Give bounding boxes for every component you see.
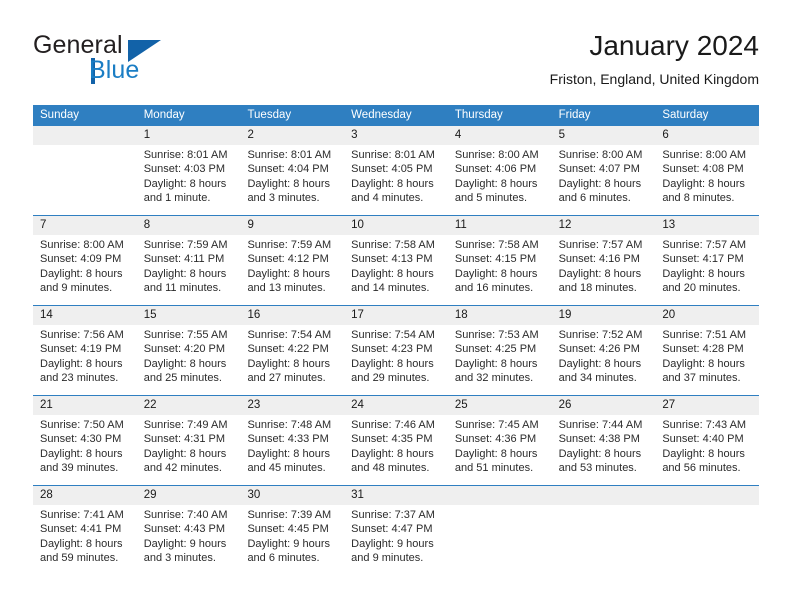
weekday-header-saturday: Saturday (655, 105, 759, 126)
day-info-line: Daylight: 8 hours (144, 267, 234, 281)
day-info-line: Daylight: 8 hours (662, 447, 752, 461)
day-info-line: Sunrise: 8:01 AM (351, 148, 441, 162)
day-info-line: Sunrise: 7:52 AM (559, 328, 649, 342)
day-info-line: Sunrise: 7:39 AM (247, 508, 337, 522)
day-info-line: Daylight: 8 hours (662, 267, 752, 281)
day-number-10[interactable]: 10 (344, 216, 448, 235)
day-info-line: Daylight: 8 hours (247, 447, 337, 461)
day-info-line: Daylight: 8 hours (662, 177, 752, 191)
day-number-16[interactable]: 16 (240, 306, 344, 325)
day-info-line: Sunset: 4:43 PM (144, 522, 234, 536)
day-number-14[interactable]: 14 (33, 306, 137, 325)
day-cell-6[interactable]: Sunrise: 8:00 AMSunset: 4:08 PMDaylight:… (655, 145, 759, 215)
day-info-line: Sunset: 4:07 PM (559, 162, 649, 176)
day-detail-row: Sunrise: 7:56 AMSunset: 4:19 PMDaylight:… (33, 325, 759, 395)
day-info-line: and 45 minutes. (247, 461, 337, 475)
day-info-line: Sunrise: 7:55 AM (144, 328, 234, 342)
day-cell-5[interactable]: Sunrise: 8:00 AMSunset: 4:07 PMDaylight:… (552, 145, 656, 215)
day-cell-17[interactable]: Sunrise: 7:54 AMSunset: 4:23 PMDaylight:… (344, 325, 448, 395)
day-info-line: and 27 minutes. (247, 371, 337, 385)
day-info-line: and 34 minutes. (559, 371, 649, 385)
day-info-line: Sunrise: 7:43 AM (662, 418, 752, 432)
day-info-line: and 39 minutes. (40, 461, 130, 475)
day-info-line: Sunrise: 8:00 AM (662, 148, 752, 162)
day-info-line: and 9 minutes. (40, 281, 130, 295)
day-number-15[interactable]: 15 (137, 306, 241, 325)
day-number-6[interactable]: 6 (655, 126, 759, 145)
day-info-line: Sunset: 4:08 PM (662, 162, 752, 176)
day-number-23[interactable]: 23 (240, 396, 344, 415)
day-number-21[interactable]: 21 (33, 396, 137, 415)
day-cell-11[interactable]: Sunrise: 7:58 AMSunset: 4:15 PMDaylight:… (448, 235, 552, 305)
day-info-line: Daylight: 8 hours (40, 447, 130, 461)
calendar-week-row: 78910111213Sunrise: 8:00 AMSunset: 4:09 … (33, 215, 759, 305)
day-info-line: Sunrise: 8:00 AM (455, 148, 545, 162)
day-info-line: and 6 minutes. (247, 551, 337, 565)
day-info-line: and 48 minutes. (351, 461, 441, 475)
day-info-line: Sunset: 4:33 PM (247, 432, 337, 446)
day-info-line: Daylight: 8 hours (455, 357, 545, 371)
day-info-line: and 8 minutes. (662, 191, 752, 205)
day-info-line: Daylight: 8 hours (247, 357, 337, 371)
day-number-26[interactable]: 26 (552, 396, 656, 415)
day-info-line: Daylight: 8 hours (351, 357, 441, 371)
day-info-line: Sunset: 4:12 PM (247, 252, 337, 266)
day-cell-20[interactable]: Sunrise: 7:51 AMSunset: 4:28 PMDaylight:… (655, 325, 759, 395)
day-info-line: Sunset: 4:15 PM (455, 252, 545, 266)
day-cell-22[interactable]: Sunrise: 7:49 AMSunset: 4:31 PMDaylight:… (137, 415, 241, 485)
day-cell-18[interactable]: Sunrise: 7:53 AMSunset: 4:25 PMDaylight:… (448, 325, 552, 395)
day-info-line: Daylight: 8 hours (351, 177, 441, 191)
day-info-line: Sunset: 4:03 PM (144, 162, 234, 176)
day-info-line: and 13 minutes. (247, 281, 337, 295)
day-info-line: and 1 minute. (144, 191, 234, 205)
calendar-week-row: 123456Sunrise: 8:01 AMSunset: 4:03 PMDay… (33, 126, 759, 215)
day-info-line: Sunset: 4:40 PM (662, 432, 752, 446)
day-info-line: and 25 minutes. (144, 371, 234, 385)
day-info-line: and 9 minutes. (351, 551, 441, 565)
day-info-line: Sunset: 4:20 PM (144, 342, 234, 356)
day-cell-24[interactable]: Sunrise: 7:46 AMSunset: 4:35 PMDaylight:… (344, 415, 448, 485)
day-info-line: and 6 minutes. (559, 191, 649, 205)
day-cell-9[interactable]: Sunrise: 7:59 AMSunset: 4:12 PMDaylight:… (240, 235, 344, 305)
day-cell-25[interactable]: Sunrise: 7:45 AMSunset: 4:36 PMDaylight:… (448, 415, 552, 485)
day-info-line: Sunrise: 7:50 AM (40, 418, 130, 432)
day-info-line: and 14 minutes. (351, 281, 441, 295)
day-info-line: Sunrise: 7:40 AM (144, 508, 234, 522)
day-number-4[interactable]: 4 (448, 126, 552, 145)
calendar-week-row: 14151617181920Sunrise: 7:56 AMSunset: 4:… (33, 305, 759, 395)
day-number-25[interactable]: 25 (448, 396, 552, 415)
day-info-line: Daylight: 9 hours (247, 537, 337, 551)
day-number-band: 14151617181920 (33, 306, 759, 325)
day-info-line: Sunrise: 8:00 AM (559, 148, 649, 162)
day-cell-empty (655, 505, 759, 575)
day-cell-7[interactable]: Sunrise: 8:00 AMSunset: 4:09 PMDaylight:… (33, 235, 137, 305)
day-info-line: Sunrise: 8:01 AM (144, 148, 234, 162)
calendar-week-row: 28293031Sunrise: 7:41 AMSunset: 4:41 PMD… (33, 485, 759, 575)
day-number-band: 78910111213 (33, 216, 759, 235)
day-number-28[interactable]: 28 (33, 486, 137, 505)
weekday-header-sunday: Sunday (33, 105, 137, 126)
calendar-page: General Blue January 2024 Friston, Engla… (0, 0, 792, 612)
day-detail-row: Sunrise: 8:01 AMSunset: 4:03 PMDaylight:… (33, 145, 759, 215)
day-info-line: Daylight: 8 hours (559, 177, 649, 191)
day-cell-10[interactable]: Sunrise: 7:58 AMSunset: 4:13 PMDaylight:… (344, 235, 448, 305)
day-info-line: Sunrise: 7:57 AM (559, 238, 649, 252)
day-cell-21[interactable]: Sunrise: 7:50 AMSunset: 4:30 PMDaylight:… (33, 415, 137, 485)
day-number-empty (448, 486, 552, 505)
day-cell-23[interactable]: Sunrise: 7:48 AMSunset: 4:33 PMDaylight:… (240, 415, 344, 485)
day-info-line: Sunrise: 7:44 AM (559, 418, 649, 432)
weekday-header-friday: Friday (552, 105, 656, 126)
day-info-line: Sunrise: 7:54 AM (351, 328, 441, 342)
day-number-band: 28293031 (33, 486, 759, 505)
day-info-line: and 3 minutes. (144, 551, 234, 565)
day-info-line: and 20 minutes. (662, 281, 752, 295)
day-info-line: Sunset: 4:06 PM (455, 162, 545, 176)
day-cell-30[interactable]: Sunrise: 7:39 AMSunset: 4:45 PMDaylight:… (240, 505, 344, 575)
day-detail-row: Sunrise: 7:41 AMSunset: 4:41 PMDaylight:… (33, 505, 759, 575)
weekday-header-monday: Monday (137, 105, 241, 126)
title-block: January 2024 Friston, England, United Ki… (550, 28, 759, 90)
day-number-19[interactable]: 19 (552, 306, 656, 325)
day-cell-14[interactable]: Sunrise: 7:56 AMSunset: 4:19 PMDaylight:… (33, 325, 137, 395)
day-cell-empty (448, 505, 552, 575)
day-info-line: Daylight: 8 hours (559, 357, 649, 371)
weekday-header-row: SundayMondayTuesdayWednesdayThursdayFrid… (33, 105, 759, 126)
page-header: General Blue January 2024 Friston, Engla… (33, 28, 759, 100)
day-cell-4[interactable]: Sunrise: 8:00 AMSunset: 4:06 PMDaylight:… (448, 145, 552, 215)
day-info-line: Sunset: 4:47 PM (351, 522, 441, 536)
day-info-line: Daylight: 8 hours (559, 447, 649, 461)
day-info-line: Sunset: 4:13 PM (351, 252, 441, 266)
day-cell-31[interactable]: Sunrise: 7:37 AMSunset: 4:47 PMDaylight:… (344, 505, 448, 575)
day-info-line: Sunset: 4:22 PM (247, 342, 337, 356)
day-info-line: Daylight: 8 hours (455, 447, 545, 461)
day-cell-29[interactable]: Sunrise: 7:40 AMSunset: 4:43 PMDaylight:… (137, 505, 241, 575)
day-info-line: Sunrise: 7:37 AM (351, 508, 441, 522)
day-cell-13[interactable]: Sunrise: 7:57 AMSunset: 4:17 PMDaylight:… (655, 235, 759, 305)
day-cell-1[interactable]: Sunrise: 8:01 AMSunset: 4:03 PMDaylight:… (137, 145, 241, 215)
day-info-line: Daylight: 8 hours (662, 357, 752, 371)
general-blue-logo[interactable]: General Blue (33, 30, 243, 90)
day-info-line: Sunset: 4:38 PM (559, 432, 649, 446)
calendar-weeks: 123456Sunrise: 8:01 AMSunset: 4:03 PMDay… (33, 126, 759, 575)
day-info-line: Sunset: 4:26 PM (559, 342, 649, 356)
day-info-line: Daylight: 8 hours (144, 447, 234, 461)
day-info-line: and 18 minutes. (559, 281, 649, 295)
day-info-line: Sunset: 4:11 PM (144, 252, 234, 266)
day-number-8[interactable]: 8 (137, 216, 241, 235)
page-title: January 2024 (550, 28, 759, 64)
day-cell-28[interactable]: Sunrise: 7:41 AMSunset: 4:41 PMDaylight:… (33, 505, 137, 575)
location-subtitle: Friston, England, United Kingdom (550, 68, 759, 90)
day-cell-27[interactable]: Sunrise: 7:43 AMSunset: 4:40 PMDaylight:… (655, 415, 759, 485)
day-info-line: and 4 minutes. (351, 191, 441, 205)
day-number-band: 123456 (33, 126, 759, 145)
day-number-20[interactable]: 20 (655, 306, 759, 325)
day-info-line: Daylight: 8 hours (351, 447, 441, 461)
day-info-line: Daylight: 8 hours (144, 177, 234, 191)
day-info-line: Sunset: 4:31 PM (144, 432, 234, 446)
day-info-line: Daylight: 9 hours (351, 537, 441, 551)
brand-word-blue: Blue (89, 55, 139, 85)
day-cell-12[interactable]: Sunrise: 7:57 AMSunset: 4:16 PMDaylight:… (552, 235, 656, 305)
day-number-empty (655, 486, 759, 505)
day-info-line: and 37 minutes. (662, 371, 752, 385)
day-info-line: Sunrise: 7:54 AM (247, 328, 337, 342)
day-cell-empty (552, 505, 656, 575)
day-info-line: Sunrise: 7:53 AM (455, 328, 545, 342)
day-info-line: Sunrise: 7:58 AM (455, 238, 545, 252)
day-number-band: 21222324252627 (33, 396, 759, 415)
day-number-9[interactable]: 9 (240, 216, 344, 235)
day-info-line: Sunrise: 7:59 AM (247, 238, 337, 252)
day-cell-3[interactable]: Sunrise: 8:01 AMSunset: 4:05 PMDaylight:… (344, 145, 448, 215)
day-number-22[interactable]: 22 (137, 396, 241, 415)
day-info-line: and 16 minutes. (455, 281, 545, 295)
day-info-line: and 32 minutes. (455, 371, 545, 385)
day-info-line: Sunset: 4:19 PM (40, 342, 130, 356)
day-info-line: and 59 minutes. (40, 551, 130, 565)
day-number-18[interactable]: 18 (448, 306, 552, 325)
day-info-line: and 5 minutes. (455, 191, 545, 205)
day-info-line: Sunset: 4:28 PM (662, 342, 752, 356)
day-cell-2[interactable]: Sunrise: 8:01 AMSunset: 4:04 PMDaylight:… (240, 145, 344, 215)
day-info-line: Sunset: 4:17 PM (662, 252, 752, 266)
day-number-13[interactable]: 13 (655, 216, 759, 235)
day-number-empty (33, 126, 137, 145)
day-number-2[interactable]: 2 (240, 126, 344, 145)
day-info-line: Sunset: 4:23 PM (351, 342, 441, 356)
day-number-31[interactable]: 31 (344, 486, 448, 505)
day-info-line: and 56 minutes. (662, 461, 752, 475)
day-number-30[interactable]: 30 (240, 486, 344, 505)
day-info-line: Sunrise: 7:45 AM (455, 418, 545, 432)
day-number-29[interactable]: 29 (137, 486, 241, 505)
day-info-line: and 23 minutes. (40, 371, 130, 385)
day-info-line: Sunset: 4:41 PM (40, 522, 130, 536)
day-info-line: and 3 minutes. (247, 191, 337, 205)
day-info-line: Daylight: 8 hours (40, 537, 130, 551)
day-info-line: Sunset: 4:16 PM (559, 252, 649, 266)
day-cell-16[interactable]: Sunrise: 7:54 AMSunset: 4:22 PMDaylight:… (240, 325, 344, 395)
day-number-5[interactable]: 5 (552, 126, 656, 145)
day-info-line: Sunset: 4:25 PM (455, 342, 545, 356)
day-info-line: Sunrise: 7:57 AM (662, 238, 752, 252)
day-info-line: Sunrise: 8:01 AM (247, 148, 337, 162)
day-number-11[interactable]: 11 (448, 216, 552, 235)
day-cell-26[interactable]: Sunrise: 7:44 AMSunset: 4:38 PMDaylight:… (552, 415, 656, 485)
weekday-header-thursday: Thursday (448, 105, 552, 126)
day-info-line: Sunrise: 7:58 AM (351, 238, 441, 252)
day-info-line: and 29 minutes. (351, 371, 441, 385)
day-info-line: Daylight: 8 hours (559, 267, 649, 281)
weekday-header-tuesday: Tuesday (240, 105, 344, 126)
day-number-7[interactable]: 7 (33, 216, 137, 235)
day-info-line: Sunrise: 7:41 AM (40, 508, 130, 522)
day-cell-8[interactable]: Sunrise: 7:59 AMSunset: 4:11 PMDaylight:… (137, 235, 241, 305)
day-info-line: Daylight: 8 hours (351, 267, 441, 281)
day-cell-empty (33, 145, 137, 215)
day-info-line: Sunset: 4:45 PM (247, 522, 337, 536)
day-info-line: Sunset: 4:35 PM (351, 432, 441, 446)
day-info-line: Daylight: 8 hours (247, 267, 337, 281)
day-info-line: Sunrise: 8:00 AM (40, 238, 130, 252)
day-info-line: Sunrise: 7:46 AM (351, 418, 441, 432)
day-info-line: Sunrise: 7:51 AM (662, 328, 752, 342)
day-info-line: and 11 minutes. (144, 281, 234, 295)
day-number-17[interactable]: 17 (344, 306, 448, 325)
day-number-27[interactable]: 27 (655, 396, 759, 415)
day-info-line: Sunset: 4:09 PM (40, 252, 130, 266)
day-info-line: and 53 minutes. (559, 461, 649, 475)
day-detail-row: Sunrise: 8:00 AMSunset: 4:09 PMDaylight:… (33, 235, 759, 305)
weekday-header-wednesday: Wednesday (344, 105, 448, 126)
day-number-24[interactable]: 24 (344, 396, 448, 415)
day-info-line: Daylight: 8 hours (455, 267, 545, 281)
day-info-line: Daylight: 8 hours (144, 357, 234, 371)
day-info-line: Sunset: 4:05 PM (351, 162, 441, 176)
calendar-table: SundayMondayTuesdayWednesdayThursdayFrid… (33, 105, 759, 575)
day-info-line: and 51 minutes. (455, 461, 545, 475)
day-number-empty (552, 486, 656, 505)
calendar-week-row: 21222324252627Sunrise: 7:50 AMSunset: 4:… (33, 395, 759, 485)
day-cell-15[interactable]: Sunrise: 7:55 AMSunset: 4:20 PMDaylight:… (137, 325, 241, 395)
day-number-12[interactable]: 12 (552, 216, 656, 235)
day-number-1[interactable]: 1 (137, 126, 241, 145)
day-info-line: Sunset: 4:30 PM (40, 432, 130, 446)
day-number-3[interactable]: 3 (344, 126, 448, 145)
day-detail-row: Sunrise: 7:50 AMSunset: 4:30 PMDaylight:… (33, 415, 759, 485)
day-info-line: and 42 minutes. (144, 461, 234, 475)
day-info-line: Daylight: 8 hours (247, 177, 337, 191)
day-info-line: Daylight: 8 hours (455, 177, 545, 191)
day-info-line: Sunrise: 7:56 AM (40, 328, 130, 342)
day-cell-19[interactable]: Sunrise: 7:52 AMSunset: 4:26 PMDaylight:… (552, 325, 656, 395)
day-info-line: Sunrise: 7:49 AM (144, 418, 234, 432)
day-info-line: Sunrise: 7:48 AM (247, 418, 337, 432)
day-info-line: Daylight: 9 hours (144, 537, 234, 551)
day-info-line: Sunset: 4:36 PM (455, 432, 545, 446)
day-info-line: Sunrise: 7:59 AM (144, 238, 234, 252)
day-info-line: Sunset: 4:04 PM (247, 162, 337, 176)
day-info-line: Daylight: 8 hours (40, 357, 130, 371)
day-info-line: Daylight: 8 hours (40, 267, 130, 281)
